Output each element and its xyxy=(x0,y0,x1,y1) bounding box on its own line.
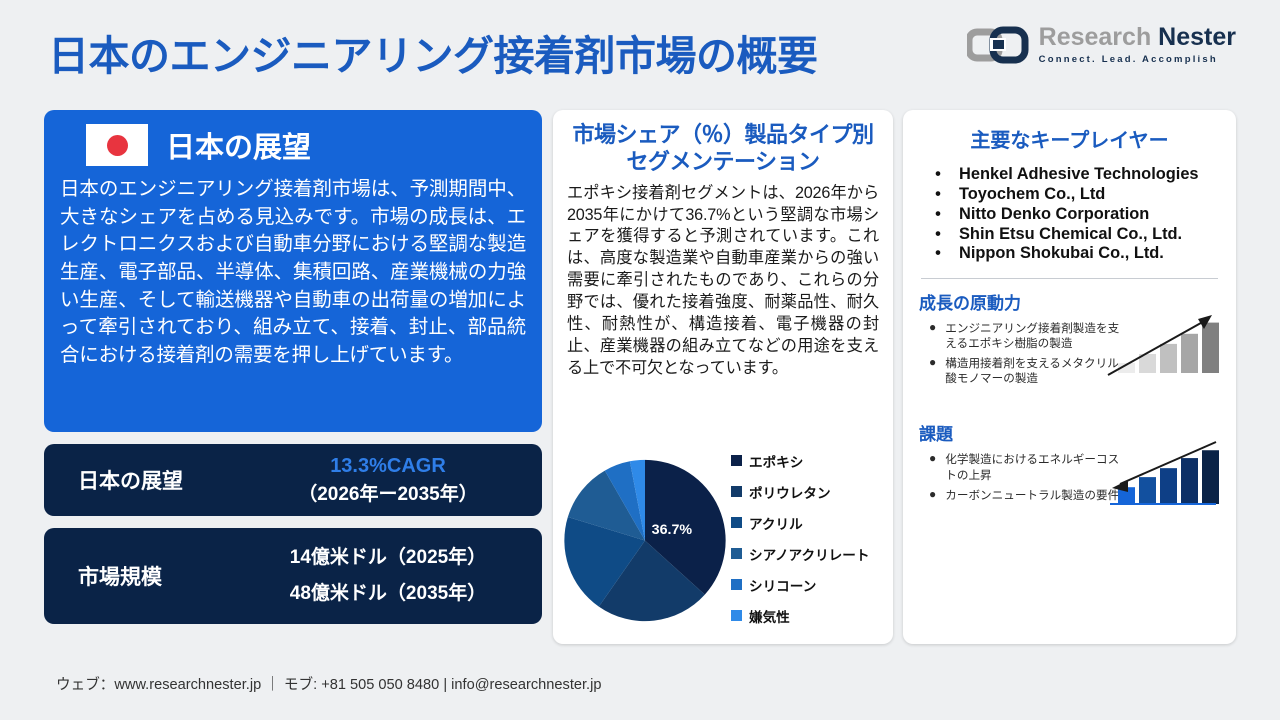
key-players-list: • Henkel Adhesive Technologies• Toyochem… xyxy=(919,165,1220,264)
legend-swatch xyxy=(731,486,742,497)
mini-chart-bar xyxy=(1202,323,1219,373)
cagr-stat-values: 13.3%CAGR （2026年ー2035年） xyxy=(244,455,542,506)
market-share-title: 市場シェア（％）製品タイプ別セグメンテーション xyxy=(567,122,879,176)
list-item: ● エンジニアリング接着剤製造を支えるエポキシ樹脂の製造 xyxy=(929,321,1129,351)
list-item-label: Nippon Shokubai Co., Ltd. xyxy=(959,244,1164,264)
legend-item: シリコーン xyxy=(731,569,906,600)
list-item: ● カーボンニュートラル製造の要件 xyxy=(929,488,1129,503)
list-item: • Nippon Shokubai Co., Ltd. xyxy=(933,244,1220,264)
legend-label: ポリウレタン xyxy=(749,482,831,502)
cagr-stat-card: 日本の展望 13.3%CAGR （2026年ー2035年） xyxy=(44,444,542,516)
bullet-icon: • xyxy=(933,185,943,205)
mini-chart-bar xyxy=(1139,478,1156,505)
challenge-bar-chart-down-icon xyxy=(1104,436,1222,510)
list-item: • Shin Etsu Chemical Co., Ltd. xyxy=(933,225,1220,245)
legend-swatch xyxy=(731,579,742,590)
key-players-title: 主要なキープレイヤー xyxy=(919,124,1220,153)
flag-sun-circle xyxy=(107,135,128,156)
market-size-2035: 48億米ドル（2035年） xyxy=(244,576,532,612)
bullet-icon: ● xyxy=(929,356,936,386)
japan-flag-icon xyxy=(86,124,148,166)
list-item-label: 構造用接着剤を支えるメタクリル酸モノマーの製造 xyxy=(945,356,1129,386)
list-item-label: 化学製造におけるエネルギーコストの上昇 xyxy=(945,452,1129,482)
list-item-label: Toyochem Co., Ltd xyxy=(959,185,1105,205)
mini-chart-bar xyxy=(1202,451,1219,505)
logo-word-research: Research xyxy=(1039,23,1152,51)
market-size-2025: 14億米ドル（2025年） xyxy=(244,540,532,576)
market-size-values: 14億米ドル（2025年） 48億米ドル（2035年） xyxy=(244,540,542,612)
list-item-label: Henkel Adhesive Technologies xyxy=(959,165,1199,185)
cagr-value: 13.3%CAGR xyxy=(244,455,532,478)
pie-legend: エポキシ ポリウレタン アクリル シアノアクリレート シリコーン 嫌気性 xyxy=(731,445,906,631)
growth-bar-chart-up-icon xyxy=(1104,305,1222,379)
header: 日本のエンジニアリング接着剤市場の概要 Research Nester Conn… xyxy=(0,0,1280,96)
list-item-label: Shin Etsu Chemical Co., Ltd. xyxy=(959,225,1182,245)
logo-word-nester: Nester xyxy=(1158,23,1236,51)
mini-chart-bar xyxy=(1181,334,1198,373)
legend-label: シリコーン xyxy=(749,575,816,595)
pie-chart-area: 36.7% エポキシ ポリウレタン アクリル シアノアクリレート シリコーン 嫌… xyxy=(553,445,893,643)
legend-label: シアノアクリレート xyxy=(749,544,869,564)
mini-chart-bar xyxy=(1160,344,1177,373)
bullet-icon: • xyxy=(933,225,943,245)
bullet-icon: • xyxy=(933,205,943,225)
legend-swatch xyxy=(731,610,742,621)
bullet-icon: ● xyxy=(929,321,936,351)
pie-chart: 36.7% xyxy=(561,453,729,628)
legend-swatch xyxy=(731,548,742,559)
list-item: ● 構造用接着剤を支えるメタクリル酸モノマーの製造 xyxy=(929,356,1129,386)
list-item: • Henkel Adhesive Technologies xyxy=(933,165,1220,185)
growth-drivers-section: 成長の原動力 ● エンジニアリング接着剤製造を支えるエポキシ樹脂の製造● 構造用… xyxy=(919,289,1220,386)
legend-swatch xyxy=(731,455,742,466)
outlook-title: 日本の展望 xyxy=(166,124,311,166)
legend-item: シアノアクリレート xyxy=(731,538,906,569)
legend-item: 嫌気性 xyxy=(731,600,906,631)
list-item-label: Nitto Denko Corporation xyxy=(959,205,1149,225)
legend-swatch xyxy=(731,517,742,528)
mini-chart-bar xyxy=(1181,459,1198,505)
bullet-icon: ● xyxy=(929,488,936,503)
players-and-factors-panel: 主要なキープレイヤー • Henkel Adhesive Technologie… xyxy=(903,110,1236,644)
market-share-body-text: エポキシ接着剤セグメントは、2026年から2035年にかけて36.7%という堅調… xyxy=(567,183,879,380)
list-item: • Nitto Denko Corporation xyxy=(933,205,1220,225)
challenges-section: 課題 ● 化学製造におけるエネルギーコストの上昇● カーボンニュートラル製造の要… xyxy=(919,420,1220,502)
outlook-header: 日本の展望 xyxy=(60,124,526,166)
logo-wordmark: Research Nester xyxy=(1039,25,1236,50)
japan-outlook-card: 日本の展望 日本のエンジニアリング接着剤市場は、予測期間中、大きなシェアを占める… xyxy=(44,110,542,432)
svg-text:36.7%: 36.7% xyxy=(652,522,693,538)
legend-label: エポキシ xyxy=(749,451,803,471)
left-column: 日本の展望 日本のエンジニアリング接着剤市場は、予測期間中、大きなシェアを占める… xyxy=(44,110,542,624)
footer-contact: ウェブ：www.researchnester.jp ｜ モブ: +81 505 … xyxy=(56,673,601,694)
list-item: • Toyochem Co., Ltd xyxy=(933,185,1220,205)
legend-item: エポキシ xyxy=(731,445,906,476)
panel-divider xyxy=(921,278,1218,279)
legend-item: アクリル xyxy=(731,507,906,538)
growth-drivers-list: ● エンジニアリング接着剤製造を支えるエポキシ樹脂の製造● 構造用接着剤を支える… xyxy=(919,321,1129,386)
legend-label: アクリル xyxy=(749,513,803,533)
bullet-icon: • xyxy=(933,244,943,264)
legend-item: ポリウレタン xyxy=(731,476,906,507)
market-size-stat-card: 市場規模 14億米ドル（2025年） 48億米ドル（2035年） xyxy=(44,528,542,624)
outlook-body-text: 日本のエンジニアリング接着剤市場は、予測期間中、大きなシェアを占める見込みです。… xyxy=(60,176,526,370)
infographic-page: 日本のエンジニアリング接着剤市場の概要 Research Nester Conn… xyxy=(0,0,1280,720)
logo-text: Research Nester Connect. Lead. Accomplis… xyxy=(1039,25,1236,65)
cagr-period: （2026年ー2035年） xyxy=(244,479,532,506)
list-item-label: エンジニアリング接着剤製造を支えるエポキシ樹脂の製造 xyxy=(945,321,1129,351)
logo-mark-icon xyxy=(967,24,1029,66)
bullet-icon: ● xyxy=(929,452,936,482)
market-size-label: 市場規模 xyxy=(44,561,244,591)
challenges-list: ● 化学製造におけるエネルギーコストの上昇● カーボンニュートラル製造の要件 xyxy=(919,452,1129,502)
cagr-stat-label: 日本の展望 xyxy=(44,465,244,495)
list-item-label: カーボンニュートラル製造の要件 xyxy=(945,488,1119,503)
bullet-icon: • xyxy=(933,165,943,185)
legend-label: 嫌気性 xyxy=(749,606,790,626)
page-title: 日本のエンジニアリング接着剤市場の概要 xyxy=(48,22,818,82)
mini-chart-bar xyxy=(1160,469,1177,505)
market-share-panel: 市場シェア（％）製品タイプ別セグメンテーション エポキシ接着剤セグメントは、20… xyxy=(553,110,893,644)
logo-tagline: Connect. Lead. Accomplish xyxy=(1039,55,1236,65)
brand-logo: Research Nester Connect. Lead. Accomplis… xyxy=(967,24,1236,66)
list-item: ● 化学製造におけるエネルギーコストの上昇 xyxy=(929,452,1129,482)
